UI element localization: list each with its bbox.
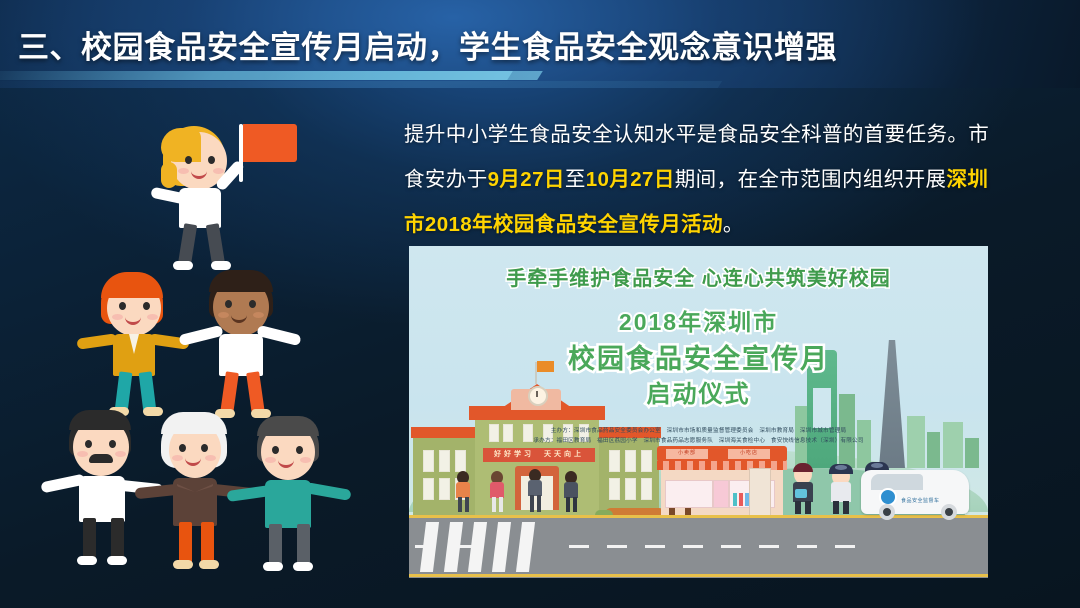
school-window: [641, 478, 652, 500]
shop-goods: [733, 493, 737, 506]
paragraph-part-4: 。: [723, 213, 744, 236]
shop-door: [749, 468, 771, 520]
crosswalk-stripe: [444, 522, 463, 572]
body-paragraph: 提升中小学生食品安全认知水平是食品安全科普的首要任务。市食安办于9月27日至10…: [404, 112, 994, 247]
poster-title-line-2: 校园食品安全宣传月: [409, 337, 988, 376]
road-dash: [607, 545, 627, 548]
mustache-icon: [89, 454, 113, 463]
school-window: [625, 450, 636, 472]
school-window: [609, 478, 620, 500]
school-window: [641, 450, 652, 472]
road-dash: [569, 545, 589, 548]
road-dash: [721, 545, 741, 548]
van-window: [871, 474, 923, 490]
paragraph-highlight-end-date: 10月27日: [586, 168, 675, 191]
road-dash: [797, 545, 817, 548]
shop-window-mid: [713, 480, 729, 508]
school-window: [423, 478, 434, 500]
slide-header: 三、校园食品安全宣传月启动，学生食品安全观念意识增强: [0, 0, 1080, 88]
crosswalk: [420, 522, 554, 572]
poster-organizer-line-1: 主办方：深圳市食品药品安全委员会办公室 深圳市市场和质量监督管理委员会 深圳市教…: [409, 426, 988, 434]
pyramid-figure-mid-left: [87, 268, 202, 428]
orange-flag-icon: [243, 124, 297, 162]
paragraph-part-3: 期间，在全市范围内组织开展: [675, 168, 947, 191]
shop-sign-left-text: 小卖部: [666, 449, 708, 458]
poster-title-line-1: 2018年深圳市: [409, 303, 988, 337]
school-window: [625, 478, 636, 500]
school-window: [439, 450, 450, 472]
poster-organizer-line-2: 承办方：福田区教育局 福田区荔园小学 深圳市食品药品志愿服务队 深圳海关食检中心…: [409, 436, 988, 444]
pyramid-figure-mid-right: [191, 268, 311, 428]
shop-sign-left: 小卖部: [665, 448, 709, 460]
streak-3: [0, 81, 722, 88]
school-window: [609, 450, 620, 472]
road-edge-bottom: [409, 574, 988, 577]
school-window: [455, 450, 466, 472]
campaign-poster-image: 好好学习 天天向上 小卖部 小吃店: [409, 246, 988, 578]
shop-sign-right-text: 小吃店: [728, 449, 770, 458]
school-banner: 好好学习 天天向上: [483, 448, 595, 462]
van-wheel: [941, 504, 957, 520]
road-dash: [835, 545, 855, 548]
page-title: 三、校园食品安全宣传月启动，学生食品安全观念意识增强: [18, 22, 837, 67]
van-wheel: [879, 504, 895, 520]
paragraph-highlight-start-date: 9月27日: [488, 168, 565, 191]
shop-sign-right: 小吃店: [727, 448, 771, 460]
crosswalk-stripe: [468, 522, 487, 572]
school-building-illustration: 好好学习 天天向上: [413, 392, 659, 520]
school-window: [439, 478, 450, 500]
shop-goods: [739, 493, 743, 506]
streak-2: [267, 71, 543, 80]
pyramid-figure-top: [155, 118, 265, 278]
poster-title-line-3: 启动仪式: [409, 374, 988, 409]
poster-slogan: 手牵手维护食品安全 心连心共筑美好校园: [409, 262, 988, 291]
pyramid-figure-bottom-right: [241, 414, 359, 576]
road-dash: [759, 545, 779, 548]
crosswalk-stripe: [516, 522, 535, 572]
road-edge-top: [409, 515, 988, 518]
slide-root: 三、校园食品安全宣传月启动，学生食品安全观念意识增强 提升中小学生食品安全认知水…: [0, 0, 1080, 608]
shop-window-left: [665, 480, 713, 508]
school-window: [423, 450, 434, 472]
road-dash: [645, 545, 665, 548]
crosswalk-stripe: [492, 522, 511, 572]
human-pyramid-illustration: [55, 118, 375, 568]
paragraph-part-2: 至: [565, 168, 586, 191]
road-dash: [683, 545, 703, 548]
van-side-text: 食品安全监督车: [901, 497, 940, 504]
